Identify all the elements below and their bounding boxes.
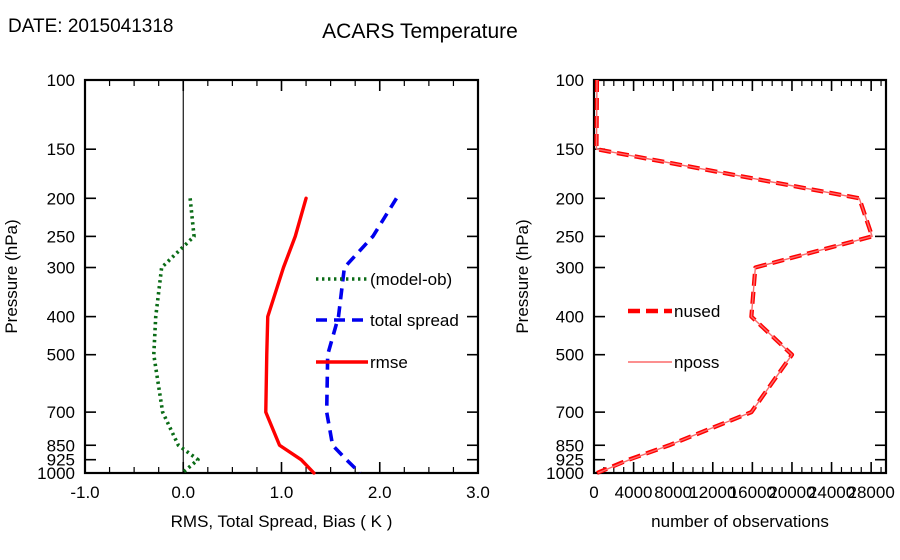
y-tick-label: 400 xyxy=(47,308,75,327)
date-label: DATE: 2015041318 xyxy=(8,16,174,37)
x-axis-label: number of observations xyxy=(651,512,829,531)
y-tick-label: 400 xyxy=(556,308,584,327)
x-axis-label: RMS, Total Spread, Bias ( K ) xyxy=(171,512,393,531)
y-axis-label: Pressure (hPa) xyxy=(2,219,21,333)
y-tick-label: 300 xyxy=(556,259,584,278)
chart-title: ACARS Temperature xyxy=(322,20,518,43)
y-tick-label: 700 xyxy=(47,403,75,422)
y-axis-label: Pressure (hPa) xyxy=(513,219,532,333)
x-tick-label: 3.0 xyxy=(466,483,490,502)
y-tick-label: 1000 xyxy=(546,464,584,483)
y-tick-label: 200 xyxy=(47,189,75,208)
legend-label-rmse: rmse xyxy=(370,353,408,372)
legend-label-nused: nused xyxy=(674,302,720,321)
y-tick-label: 250 xyxy=(47,227,75,246)
chart-canvas: DATE: 2015041318 ACARS Temperature 10015… xyxy=(0,0,900,560)
x-tick-label: 8000 xyxy=(654,483,692,502)
y-tick-label: 500 xyxy=(556,346,584,365)
x-tick-label: 4000 xyxy=(615,483,653,502)
x-tick-label: 28000 xyxy=(848,483,895,502)
y-tick-label: 500 xyxy=(47,346,75,365)
x-tick-label: 0.0 xyxy=(171,483,195,502)
x-tick-label: 2.0 xyxy=(368,483,392,502)
y-tick-label: 200 xyxy=(556,189,584,208)
x-tick-label: 1.0 xyxy=(270,483,294,502)
y-tick-label: 150 xyxy=(556,140,584,159)
y-tick-label: 150 xyxy=(47,140,75,159)
legend-label-nposs: nposs xyxy=(674,353,719,372)
legend-label-total-spread: total spread xyxy=(370,311,459,330)
legend-label-model-ob: (model-ob) xyxy=(370,270,452,289)
x-tick-label: 0 xyxy=(589,483,598,502)
y-tick-label: 700 xyxy=(556,403,584,422)
y-tick-label: 250 xyxy=(556,227,584,246)
y-tick-label: 100 xyxy=(47,71,75,90)
y-tick-label: 1000 xyxy=(37,464,75,483)
y-tick-label: 300 xyxy=(47,259,75,278)
x-tick-label: -1.0 xyxy=(70,483,99,502)
y-tick-label: 100 xyxy=(556,71,584,90)
acars-temperature-figure: DATE: 2015041318 ACARS Temperature 10015… xyxy=(0,0,900,560)
